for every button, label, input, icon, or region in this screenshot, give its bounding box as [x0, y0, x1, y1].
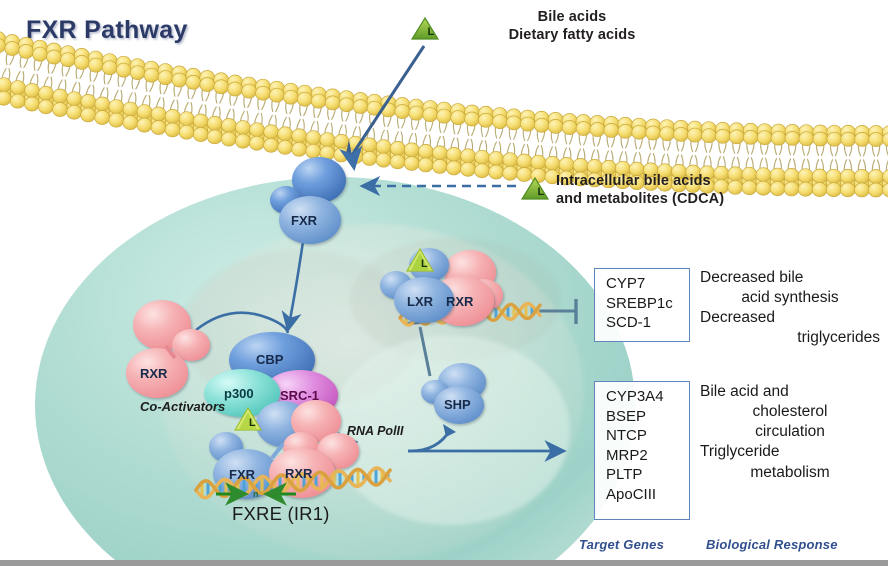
- ir1-repeat-count: n: [253, 489, 259, 499]
- gene-name: CYP7: [606, 274, 681, 294]
- response-line: Decreased bile: [700, 268, 880, 288]
- legend-biological-response: Biological Response: [706, 537, 838, 552]
- svg-text:L: L: [249, 417, 256, 429]
- response-line: Bile acid and: [700, 382, 880, 402]
- gene-name: BSEP: [606, 407, 681, 427]
- ligand-icon-fxr-bound: L: [232, 405, 264, 438]
- induced-genes-response: Bile acid andcholesterolcirculationTrigl…: [700, 382, 880, 483]
- fxre-label: FXRE (IR1): [232, 503, 330, 525]
- gene-name: SCD-1: [606, 313, 681, 333]
- ligand-icon-intracellular: L: [520, 176, 550, 207]
- gene-name: PLTP: [606, 465, 681, 485]
- gene-name: CYP3A4: [606, 387, 681, 407]
- repressed-genes-response: Decreased bileacid synthesisDecreasedtri…: [700, 268, 880, 349]
- caption-line-2: Dietary fatty acids: [452, 26, 692, 44]
- gene-name: ApoCIII: [606, 485, 681, 505]
- response-line: triglycerides: [700, 328, 880, 348]
- caption-line-1: Bile acids: [452, 8, 692, 26]
- rna-polymerase-label: RNA PolII: [347, 424, 403, 438]
- gene-name: SREBP1c: [606, 294, 681, 314]
- svg-text:L: L: [421, 258, 428, 270]
- legend-target-genes: Target Genes: [579, 537, 664, 552]
- svg-text:L: L: [538, 186, 545, 198]
- fxr-pathway-diagram: FXR Pathway: [0, 0, 888, 566]
- induced-genes-box: CYP3A4BSEPNTCPMRP2PLTPApoCIII: [594, 381, 690, 520]
- response-line: circulation: [700, 422, 880, 442]
- response-line: Decreased: [700, 308, 880, 328]
- response-line: metabolism: [700, 463, 880, 483]
- ligand-icon-lxr-bound: L: [404, 246, 436, 279]
- repressed-genes-box: CYP7SREBP1cSCD-1: [594, 268, 690, 342]
- gene-name: MRP2: [606, 446, 681, 466]
- cell-body: [35, 177, 635, 566]
- extracellular-ligand-caption: Bile acids Dietary fatty acids: [452, 8, 692, 44]
- response-line: acid synthesis: [700, 288, 880, 308]
- coactivators-label: Co-Activators: [140, 399, 225, 414]
- caption-line-1: Intracellular bile acids: [556, 172, 856, 190]
- caption-line-2: and metabolites (CDCA): [556, 190, 856, 208]
- intracellular-ligand-caption: Intracellular bile acids and metabolites…: [556, 172, 856, 208]
- ligand-glyph: L: [428, 26, 435, 38]
- gene-name: NTCP: [606, 426, 681, 446]
- ligand-icon-extracellular: L: [410, 16, 440, 47]
- response-line: cholesterol: [700, 402, 880, 422]
- response-line: Triglyceride: [700, 442, 880, 462]
